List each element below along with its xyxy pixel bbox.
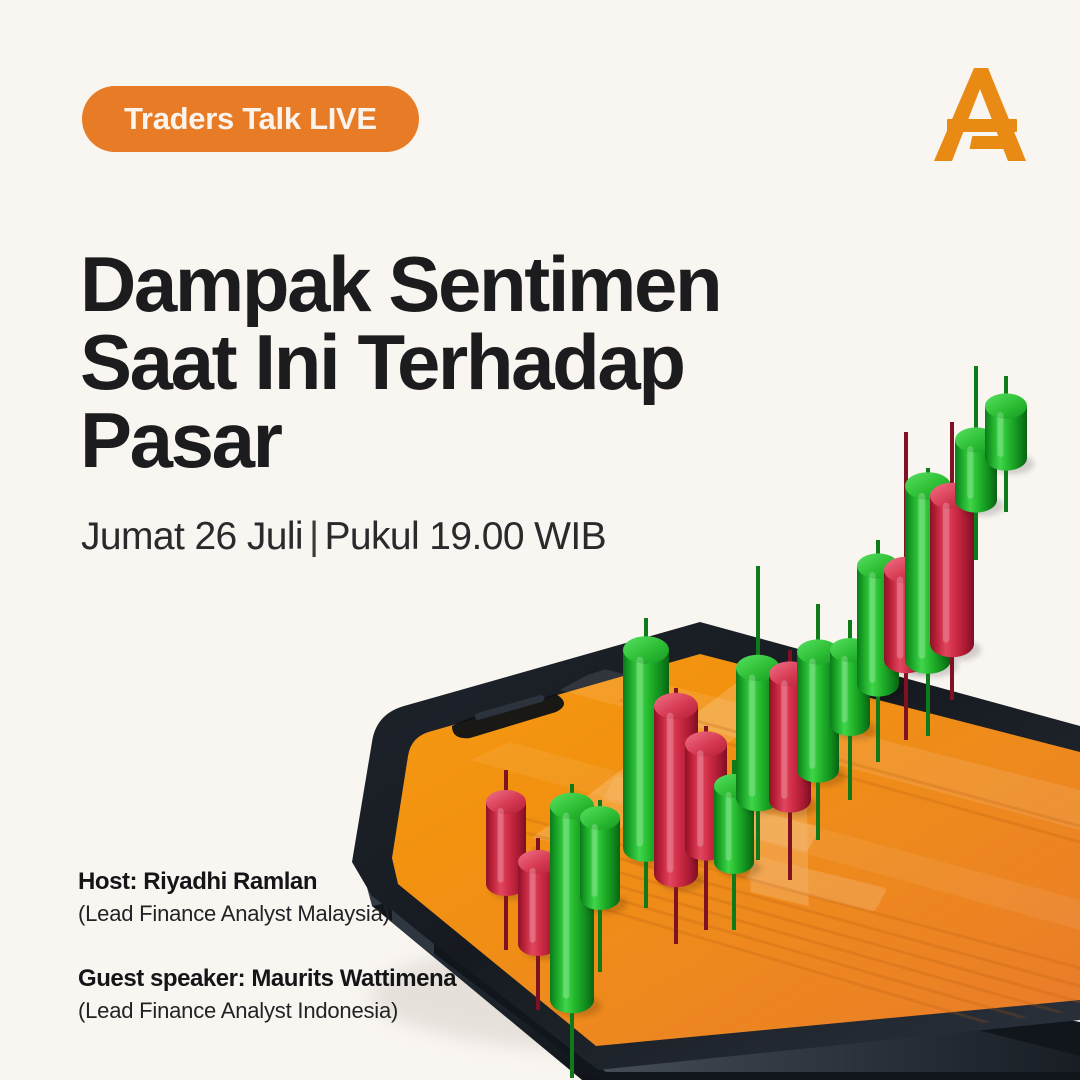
- credit-guest: Guest speaker: Maurits Wattimena (Lead F…: [78, 965, 548, 1024]
- credit-host-role: (Lead Finance Analyst Malaysia): [78, 901, 548, 927]
- live-badge-label: Traders Talk LIVE: [124, 101, 377, 137]
- candle-cap: [654, 693, 698, 719]
- candle-cap: [985, 393, 1027, 418]
- anugerah-a-logo-icon: [930, 62, 1030, 167]
- candle-cap: [580, 806, 620, 830]
- credits-block: Host: Riyadhi Ramlan (Lead Finance Analy…: [78, 868, 548, 1024]
- candle-cap: [685, 731, 727, 756]
- credit-guest-role: (Lead Finance Analyst Indonesia): [78, 998, 548, 1024]
- schedule-time: Pukul 19.00 WIB: [325, 515, 606, 558]
- live-badge: Traders Talk LIVE: [82, 86, 419, 152]
- candle-body: [930, 496, 974, 644]
- page-title: Dampak Sentimen Saat Ini Terhadap Pasar: [80, 245, 800, 479]
- credit-host-name: Host: Riyadhi Ramlan: [78, 868, 548, 896]
- candle-cap: [486, 790, 526, 814]
- credit-host: Host: Riyadhi Ramlan (Lead Finance Analy…: [78, 868, 548, 927]
- schedule-separator: |: [303, 515, 325, 558]
- schedule-date: Jumat 26 Juli: [81, 515, 303, 558]
- candle-cap: [623, 636, 669, 664]
- poster-canvas: Traders Talk LIVE Dampak Sentimen Saat I…: [0, 0, 1080, 1080]
- schedule-line: Jumat 26 Juli|Pukul 19.00 WIB: [81, 515, 606, 559]
- credit-guest-name: Guest speaker: Maurits Wattimena: [78, 965, 548, 993]
